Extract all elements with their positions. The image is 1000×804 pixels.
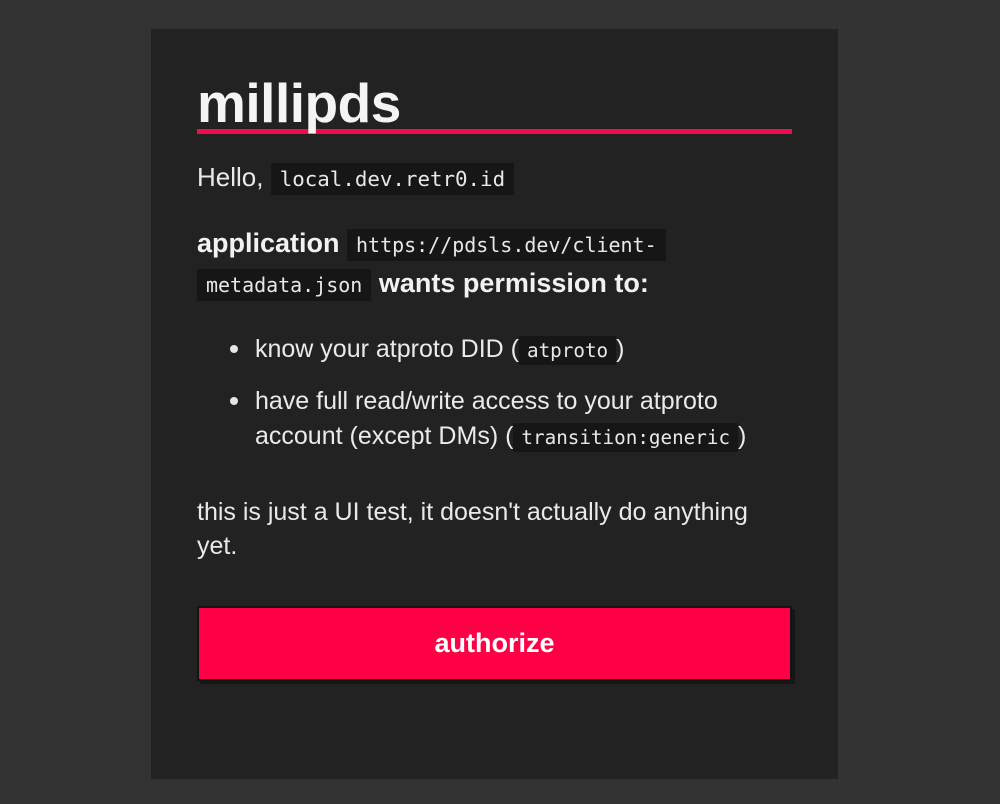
scope-chip: transition:generic <box>513 423 738 452</box>
scope-list: know your atproto DID (atproto) have ful… <box>197 332 792 455</box>
authorize-button[interactable]: authorize <box>197 606 792 681</box>
actions-row: authorize <box>197 606 792 681</box>
title-block: millipds <box>197 77 792 134</box>
wants-permission-label: wants permission to: <box>379 268 649 298</box>
authorization-card: millipds Hello, local.dev.retr0.id appli… <box>151 29 838 779</box>
list-item: know your atproto DID (atproto) <box>230 332 792 368</box>
scope-close-paren: ) <box>738 422 746 450</box>
bullet-dot-icon <box>230 397 238 405</box>
greeting-prefix: Hello, <box>197 162 263 192</box>
bullet-dot-icon <box>230 345 238 353</box>
page-title: millipds <box>197 77 792 135</box>
permission-header: application https://pdsls.dev/client-met… <box>197 224 792 304</box>
greeting-line: Hello, local.dev.retr0.id <box>197 160 792 194</box>
list-item: have full read/write access to your atpr… <box>230 384 792 455</box>
scope-close-paren: ) <box>616 335 624 363</box>
scope-open-paren: ( <box>511 335 519 363</box>
user-handle-chip: local.dev.retr0.id <box>271 163 514 195</box>
scope-chip: atproto <box>519 336 616 365</box>
page-background: millipds Hello, local.dev.retr0.id appli… <box>0 0 1000 804</box>
ui-test-note: this is just a UI test, it doesn't actua… <box>197 495 792 564</box>
scope-description: know your atproto DID <box>255 335 504 363</box>
application-label: application <box>197 228 340 258</box>
